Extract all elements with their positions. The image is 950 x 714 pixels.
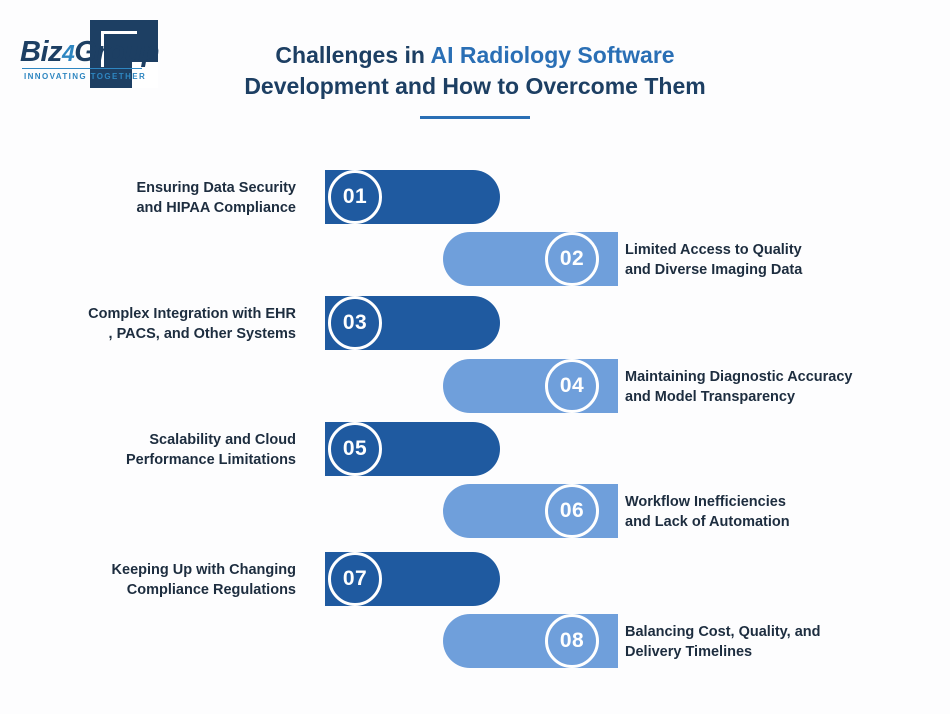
item-label-01-line-1: Ensuring Data Security <box>16 178 296 198</box>
logo-word-group: Group <box>74 36 159 68</box>
item-label-08-line-1: Balancing Cost, Quality, and <box>625 622 925 642</box>
list-item: 07 Keeping Up with Changing Compliance R… <box>0 552 950 606</box>
item-number-02: 02 <box>545 232 599 286</box>
item-number-01: 01 <box>328 170 382 224</box>
item-label-07-line-1: Keeping Up with Changing <box>16 560 296 580</box>
logo-divider <box>22 68 142 69</box>
item-label-06-line-2: and Lack of Automation <box>625 512 925 532</box>
item-label-08-line-2: Delivery Timelines <box>625 642 925 662</box>
list-item: 06 Workflow Inefficiencies and Lack of A… <box>0 484 950 538</box>
item-label-01: Ensuring Data Security and HIPAA Complia… <box>16 178 296 218</box>
item-label-04-line-2: and Model Transparency <box>625 387 925 407</box>
title-underline <box>420 116 530 119</box>
item-label-02-line-2: and Diverse Imaging Data <box>625 260 925 280</box>
item-label-07: Keeping Up with Changing Compliance Regu… <box>16 560 296 600</box>
list-item: 05 Scalability and Cloud Performance Lim… <box>0 422 950 476</box>
item-label-04: Maintaining Diagnostic Accuracy and Mode… <box>625 367 925 407</box>
logo-word-four: 4 <box>62 40 74 66</box>
item-number-07: 07 <box>328 552 382 606</box>
item-label-03-line-2: , PACS, and Other Systems <box>16 324 296 344</box>
item-number-03: 03 <box>328 296 382 350</box>
item-label-08: Balancing Cost, Quality, and Delivery Ti… <box>625 622 925 662</box>
logo-word-biz: Biz <box>20 36 62 68</box>
item-label-02-line-1: Limited Access to Quality <box>625 240 925 260</box>
item-label-03-line-1: Complex Integration with EHR <box>16 304 296 324</box>
item-label-04-line-1: Maintaining Diagnostic Accuracy <box>625 367 925 387</box>
list-item: 08 Balancing Cost, Quality, and Delivery… <box>0 614 950 668</box>
item-label-05-line-2: Performance Limitations <box>16 450 296 470</box>
list-item: 02 Limited Access to Quality and Diverse… <box>0 232 950 286</box>
item-label-07-line-2: Compliance Regulations <box>16 580 296 600</box>
page-title-highlight: AI Radiology Software <box>430 42 674 68</box>
item-label-03: Complex Integration with EHR , PACS, and… <box>16 304 296 344</box>
item-label-06: Workflow Inefficiencies and Lack of Auto… <box>625 492 925 532</box>
item-number-08: 08 <box>545 614 599 668</box>
item-number-06: 06 <box>545 484 599 538</box>
list-item: 03 Complex Integration with EHR , PACS, … <box>0 296 950 350</box>
list-item: 01 Ensuring Data Security and HIPAA Comp… <box>0 170 950 224</box>
page-title-prefix: Challenges in <box>275 42 430 68</box>
logo-tagline: INNOVATING TOGETHER <box>24 72 146 81</box>
item-label-02: Limited Access to Quality and Diverse Im… <box>625 240 925 280</box>
page-title-line-1: Challenges in AI Radiology Software <box>200 40 750 71</box>
item-number-04: 04 <box>545 359 599 413</box>
item-label-06-line-1: Workflow Inefficiencies <box>625 492 925 512</box>
item-label-05-line-1: Scalability and Cloud <box>16 430 296 450</box>
item-label-01-line-2: and HIPAA Compliance <box>16 198 296 218</box>
logo-wordmark: Biz4Group <box>20 36 159 69</box>
item-label-05: Scalability and Cloud Performance Limita… <box>16 430 296 470</box>
page-title-line-2: Development and How to Overcome Them <box>200 71 750 102</box>
page-title: Challenges in AI Radiology Software Deve… <box>200 40 750 119</box>
item-number-05: 05 <box>328 422 382 476</box>
infographic-page: Biz4Group INNOVATING TOGETHER Challenges… <box>0 0 950 714</box>
brand-logo: Biz4Group INNOVATING TOGETHER <box>20 20 170 90</box>
list-item: 04 Maintaining Diagnostic Accuracy and M… <box>0 359 950 413</box>
